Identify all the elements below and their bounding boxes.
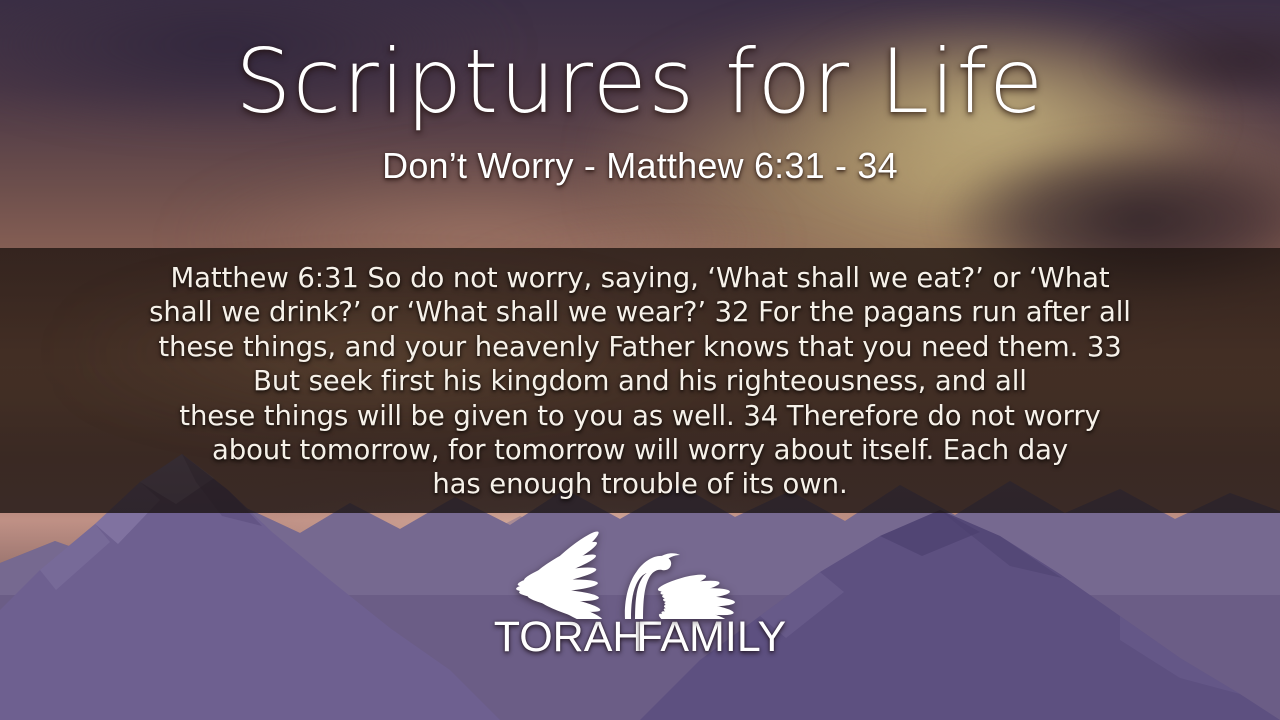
title-block: Scriptures for Life Don’t Worry - Matthe…	[0, 38, 1280, 186]
scripture-line: Matthew 6:31 So do not worry, saying, ‘W…	[118, 261, 1162, 295]
dove-icon	[502, 527, 778, 619]
brand-name: TORAHFAMILY	[490, 613, 790, 662]
brand-name-first: TORAH	[494, 613, 644, 661]
scripture-line: shall we drink?’ or ‘What shall we wear?…	[118, 295, 1162, 329]
scripture-line: these things, and your heavenly Father k…	[118, 330, 1162, 364]
page-title: Scriptures for Life	[0, 38, 1280, 126]
brand-logo: TORAHFAMILY	[490, 527, 790, 662]
brand-name-second: FAMILY	[636, 613, 786, 661]
page-subtitle: Don’t Worry - Matthew 6:31 - 34	[0, 146, 1280, 186]
scripture-line: about tomorrow, for tomorrow will worry …	[118, 433, 1162, 467]
scripture-slide: Scriptures for Life Don’t Worry - Matthe…	[0, 0, 1280, 720]
scripture-line: has enough trouble of its own.	[118, 467, 1162, 501]
scripture-line: these things will be given to you as wel…	[118, 399, 1162, 433]
scripture-text-block: Matthew 6:31 So do not worry, saying, ‘W…	[0, 261, 1280, 502]
scripture-line: But seek first his kingdom and his right…	[118, 364, 1162, 398]
